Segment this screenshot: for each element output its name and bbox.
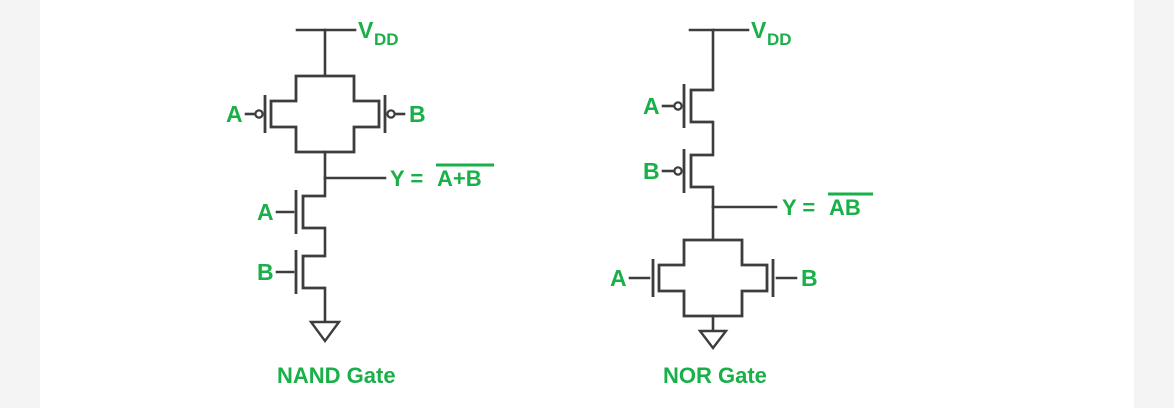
nand-nmos-b <box>277 250 325 294</box>
nand-vdd-label: V <box>358 17 374 43</box>
nand-ground-triangle-icon <box>311 322 339 341</box>
nor-output-expression: AB <box>829 195 861 220</box>
nand-vdd-rail <box>297 30 355 75</box>
cmos-schematics-svg: V DD A B <box>0 0 1174 408</box>
nand-output-label: Y = A+B <box>390 165 494 191</box>
nor-nmos-b <box>773 259 796 297</box>
nor-output-node-wire <box>713 187 776 207</box>
nor-pmos-a-bubble-icon <box>674 102 681 109</box>
nand-gate-circuit: V DD A B <box>226 17 494 388</box>
nand-nmos-a <box>277 178 325 234</box>
nor-vdd-label: V <box>751 17 767 43</box>
nand-pmos-parallel-pair <box>271 76 379 152</box>
nor-vdd-subscript: DD <box>767 30 792 49</box>
nor-nmos-parallel-pair <box>659 240 767 316</box>
nand-pmos-b <box>385 95 404 133</box>
nand-pmos-a-bubble-icon <box>255 110 262 117</box>
nand-pmos-a <box>246 95 265 133</box>
nand-output-expression: A+B <box>437 166 482 191</box>
nor-gate-circuit: V DD A B <box>610 17 873 388</box>
nor-output-label: Y = AB <box>782 194 873 220</box>
nand-pmos-a-gate-label: A <box>226 101 243 127</box>
nor-vdd-rail <box>690 30 748 90</box>
nor-pmos-a <box>663 84 713 128</box>
nor-ground-triangle-icon <box>700 331 726 348</box>
nand-output-prefix: Y = <box>390 166 423 191</box>
nand-vdd-subscript: DD <box>374 30 399 49</box>
nor-nmos-a <box>630 259 653 297</box>
nor-pmos-b-bubble-icon <box>674 167 681 174</box>
nand-pmos-b-gate-label: B <box>409 101 426 127</box>
nand-nmos-b-gate-label: B <box>257 259 274 285</box>
nor-pmos-a-gate-label: A <box>643 93 660 119</box>
nand-nmos-a-gate-label: A <box>257 199 274 225</box>
diagram-canvas: V DD A B <box>0 0 1174 408</box>
nand-pmos-b-bubble-icon <box>387 110 394 117</box>
nor-nmos-a-gate-label: A <box>610 265 627 291</box>
nor-output-prefix: Y = <box>782 195 815 220</box>
nor-pmos-b <box>663 149 713 193</box>
nor-caption: NOR Gate <box>663 363 767 388</box>
nor-nmos-b-gate-label: B <box>801 265 818 291</box>
nor-pmos-b-gate-label: B <box>643 158 660 184</box>
nand-caption: NAND Gate <box>277 363 396 388</box>
nand-output-node-wire <box>325 152 385 178</box>
